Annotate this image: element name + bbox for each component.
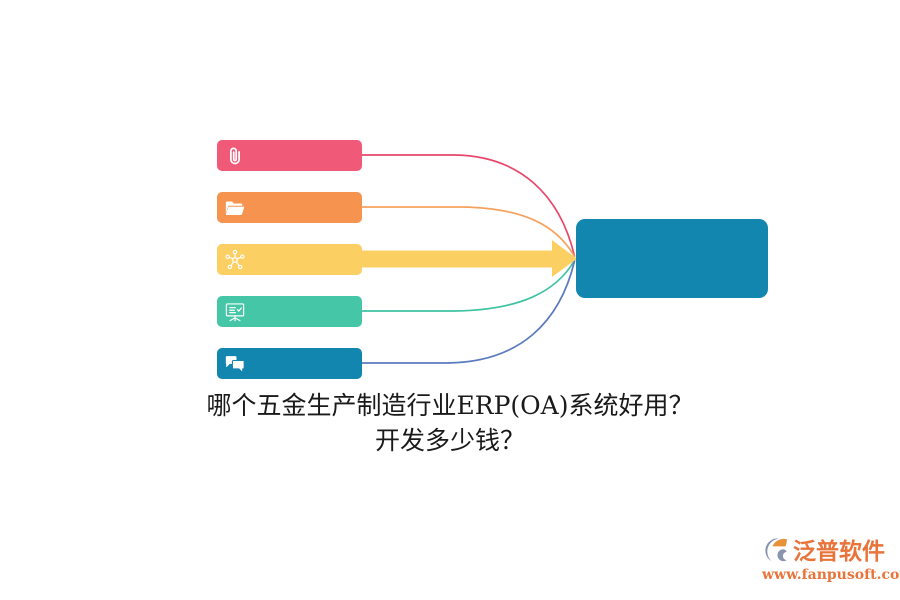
connector-arrow-3	[356, 240, 577, 277]
chat-bubbles-icon	[224, 353, 246, 375]
connector-path-4	[362, 261, 575, 312]
category-bar-attachments[interactable]	[217, 140, 362, 171]
caption-line-2: 开发多少钱？	[0, 423, 900, 458]
presentation-board-icon	[224, 301, 246, 323]
target-box[interactable]	[576, 219, 768, 298]
network-hub-icon	[224, 249, 246, 271]
category-bar-network[interactable]	[217, 244, 362, 275]
connector-path-5	[362, 261, 575, 363]
paperclip-icon	[224, 145, 246, 167]
watermark: 泛普软件 www.fanpusoft.com	[762, 532, 896, 588]
category-bar-messages[interactable]	[217, 348, 362, 379]
watermark-url: www.fanpusoft.com	[762, 567, 896, 583]
watermark-row: 泛普软件	[762, 532, 896, 566]
page-title: 哪个五金生产制造行业ERP(OA)系统好用？ 开发多少钱？	[0, 388, 900, 458]
fanpu-logo-icon	[762, 534, 792, 564]
diagram-connectors	[0, 0, 900, 600]
open-folder-icon	[224, 197, 246, 219]
category-bar-reports[interactable]	[217, 296, 362, 327]
watermark-brand: 泛普软件	[793, 532, 885, 566]
connector-path-2	[362, 207, 575, 257]
category-bar-documents[interactable]	[217, 192, 362, 223]
caption-line-1: 哪个五金生产制造行业ERP(OA)系统好用？	[0, 388, 900, 423]
slide-canvas: 哪个五金生产制造行业ERP(OA)系统好用？ 开发多少钱？ 泛普软件 www.f…	[0, 0, 900, 600]
connector-path-1	[362, 155, 575, 256]
